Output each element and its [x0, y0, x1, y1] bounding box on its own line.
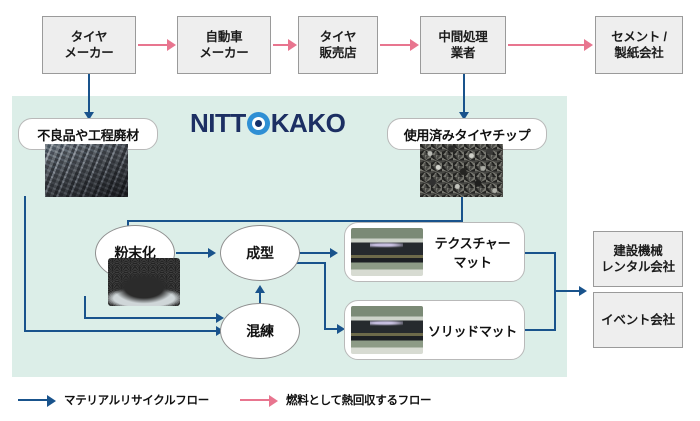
waste-down-outer-seg [24, 196, 26, 331]
logo-text-right: KAKO [271, 108, 346, 139]
node-intermediate-processor-label: 中間処理 業者 [438, 29, 487, 61]
node-kneading[interactable]: 混練 [220, 303, 300, 359]
rubber-powder-photo [108, 258, 180, 306]
flow-molding-to-texture-mat [298, 252, 332, 254]
node-construction-rental[interactable]: 建設機械 レンタル会社 [593, 231, 683, 287]
solid-mat-glint [370, 320, 403, 326]
flow-molding-to-texture-mat-arrowhead [330, 248, 338, 258]
texture-mat-join-seg [554, 252, 556, 291]
flow-thermal-4 [508, 44, 585, 46]
diagram-canvas: タイヤ メーカー 自動車 メーカー タイヤ 販売店 中間処理 業者 セメント /… [0, 0, 700, 421]
node-texture-mat[interactable]: テクスチャー マット [344, 222, 525, 282]
flow-material-intermediate-down [463, 74, 465, 114]
flow-thermal-1-arrowhead [167, 39, 176, 51]
node-construction-rental-label: 建設機械 レンタル会社 [601, 243, 675, 275]
legend-thermal-recovery-flow-label: 燃料として熱回収するフロー [286, 392, 431, 408]
flow-pulverize-to-molding [176, 252, 210, 254]
mats-to-customers-seg [554, 290, 582, 292]
node-molding[interactable]: 成型 [220, 225, 300, 281]
chips-down-seg [461, 196, 463, 222]
texture-mat-glint [370, 242, 403, 248]
node-auto-maker-label: 自動車 メーカー [199, 29, 248, 61]
node-tire-shop[interactable]: タイヤ 販売店 [298, 16, 378, 74]
o-eye-icon [247, 112, 270, 135]
texture-mat-photo [351, 228, 423, 276]
node-intermediate-processor[interactable]: 中間処理 業者 [420, 16, 506, 74]
node-event-company[interactable]: イベント会社 [593, 292, 683, 348]
legend-thermal-arrow-icon [240, 394, 280, 406]
flow-molding-branch-v [324, 262, 326, 329]
node-solid-mat[interactable]: ソリッドマット [344, 300, 525, 360]
node-kneading-label: 混練 [246, 321, 273, 341]
solid-mat-photo [351, 306, 423, 354]
node-used-tire-chips-label: 使用済みタイヤチップ [404, 125, 531, 144]
waste-right-outer-seg [24, 330, 220, 332]
texture-mat-out-seg [524, 252, 556, 254]
node-tire-shop-label: タイヤ 販売店 [320, 29, 357, 61]
node-texture-mat-label: テクスチャー マット [417, 233, 524, 271]
node-molding-label: 成型 [246, 243, 273, 263]
solid-mat-join-seg [554, 290, 556, 331]
flow-pulverize-to-molding-arrowhead [208, 248, 216, 258]
flow-thermal-2 [273, 44, 289, 46]
flow-thermal-2-arrowhead [288, 39, 297, 51]
flow-thermal-3-arrowhead [410, 39, 419, 51]
legend-thermal-recovery-flow: 燃料として熱回収するフロー [240, 392, 431, 408]
node-tire-maker-label: タイヤ メーカー [64, 29, 113, 61]
flow-thermal-1 [138, 44, 168, 46]
flow-material-tiremaker-down [88, 74, 90, 114]
flow-kneading-to-molding-arrowhead [255, 285, 265, 293]
node-defective-waste-label: 不良品や工程廃材 [37, 125, 139, 144]
mats-to-customers-arrowhead [579, 286, 587, 296]
legend-material-recycle-flow-label: マテリアルリサイクルフロー [64, 392, 209, 408]
powder-right-inner-seg [84, 317, 220, 319]
solid-mat-out-seg [524, 329, 556, 331]
legend-material-recycle-flow: マテリアルリサイクルフロー [18, 392, 209, 408]
logo-text-left: NITT [190, 108, 246, 139]
node-auto-maker[interactable]: 自動車 メーカー [177, 16, 271, 74]
flow-thermal-4-arrowhead [584, 39, 593, 51]
flow-thermal-3 [380, 44, 411, 46]
node-cement-paper-company[interactable]: セメント / 製紙会社 [595, 16, 683, 74]
legend-material-arrow-icon [18, 394, 58, 406]
node-tire-maker[interactable]: タイヤ メーカー [42, 16, 136, 74]
rubber-scrap-photo [45, 144, 128, 197]
tire-chips-photo [420, 144, 503, 197]
node-solid-mat-label: ソリッドマット [417, 321, 524, 340]
powder-down-inner-seg [84, 296, 86, 318]
node-event-company-label: イベント会社 [601, 312, 675, 328]
nitto-kako-logo: NITT KAKO [190, 108, 345, 139]
node-cement-paper-company-label: セメント / 製紙会社 [611, 29, 667, 61]
